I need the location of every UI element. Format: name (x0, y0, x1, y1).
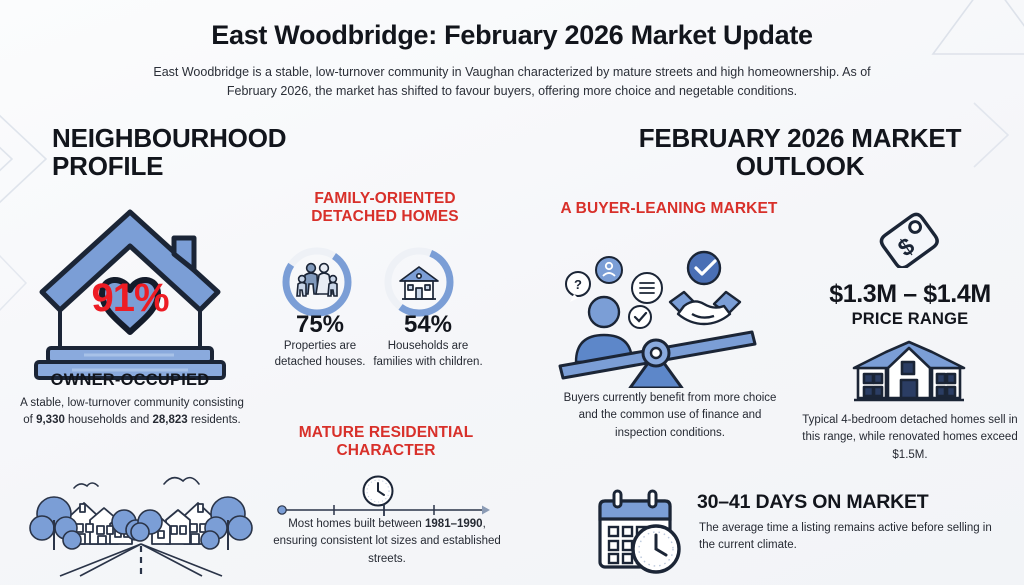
owner-occupied-description: A stable, low-turnover community consist… (16, 395, 248, 430)
price-tag-icon: $ (878, 200, 950, 273)
owner-desc-part3: residents. (188, 414, 241, 426)
detached-percent-caption: Properties are detached houses. (262, 338, 378, 370)
mature-desc-part1: Most homes built between (288, 518, 425, 530)
family-detached-heading: FAMILY-ORIENTED DETACHED HOMES (272, 190, 498, 227)
seesaw-balance-icon: ? (552, 240, 762, 393)
buyer-market-heading: A BUYER-LEANING MARKET (558, 200, 780, 218)
section-heading-neighbourhood: NEIGHBOURHOOD PROFILE (52, 124, 352, 180)
buyer-market-description: Buyers currently benefit from more choic… (556, 390, 784, 442)
detached-percent-value: 75% (270, 312, 370, 337)
infographic-canvas: East Woodbridge: February 2026 Market Up… (0, 0, 1024, 585)
calendar-clock-icon (592, 487, 688, 580)
owner-desc-part2: households and (65, 414, 153, 426)
price-range-label: PRICE RANGE (800, 310, 1020, 329)
mature-character-description: Most homes built between 1981–1990, ensu… (266, 516, 508, 568)
families-percent-caption: Households are families with children. (370, 338, 486, 370)
days-on-market-description: The average time a listing remains activ… (699, 520, 999, 553)
mature-character-heading: MATURE RESIDENTIAL CHARACTER (266, 424, 506, 461)
svg-text:?: ? (574, 277, 582, 292)
days-on-market-heading: 30–41 DAYS ON MARKET (697, 491, 929, 514)
page-subtitle: East Woodbridge is a stable, low-turnove… (132, 63, 892, 102)
owner-occupied-label: OWNER-OCCUPIED (10, 371, 250, 390)
price-range-description: Typical 4-bedroom detached homes sell in… (802, 412, 1018, 464)
households-count: 9,330 (36, 414, 65, 426)
header: East Woodbridge: February 2026 Market Up… (0, 20, 1024, 102)
families-percent-value: 54% (378, 312, 478, 337)
residential-street-icon (28, 470, 254, 583)
page-title: East Woodbridge: February 2026 Market Up… (0, 20, 1024, 51)
two-storey-house-icon (852, 338, 966, 411)
build-years: 1981–1990 (425, 518, 483, 530)
section-heading-market-outlook: FEBRUARY 2026 MARKET OUTLOOK (600, 124, 1000, 180)
residents-count: 28,823 (152, 414, 187, 426)
owner-occupied-value: 91% (24, 276, 236, 321)
price-range-value: $1.3M – $1.4M (800, 280, 1020, 309)
